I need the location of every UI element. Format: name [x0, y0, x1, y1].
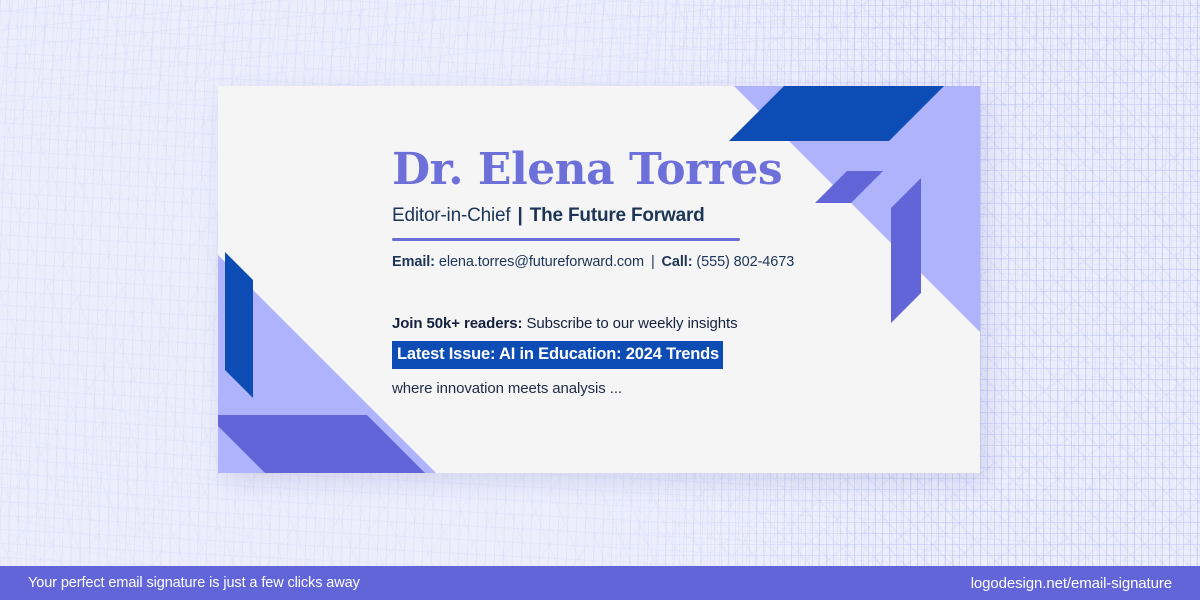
footer-tagline: Your perfect email signature is just a f…: [28, 575, 360, 591]
phone-number[interactable]: (555) 802-4673: [696, 254, 794, 270]
signature-content: Dr. Elena Torres Editor-in-Chief | The F…: [392, 146, 952, 397]
contact-separator: |: [648, 254, 658, 270]
email-signature-card: Dr. Elena Torres Editor-in-Chief | The F…: [218, 86, 980, 473]
subscribe-cta-text: Subscribe to our weekly insights: [526, 315, 737, 332]
role-separator: |: [516, 205, 525, 226]
promo-block: Join 50k+ readers: Subscribe to our week…: [392, 315, 952, 397]
person-name: Dr. Elena Torres: [392, 146, 952, 194]
contact-line: Email: elena.torres@futureforward.com | …: [392, 254, 952, 270]
email-address[interactable]: elena.torres@futureforward.com: [439, 254, 644, 270]
tagline: where innovation meets analysis ...: [392, 380, 952, 397]
footer-url[interactable]: logodesign.net/email-signature: [971, 575, 1172, 592]
latest-issue-highlight[interactable]: Latest Issue: AI in Education: 2024 Tren…: [392, 341, 723, 369]
role-title: Editor-in-Chief: [392, 205, 510, 226]
footer-bar: Your perfect email signature is just a f…: [0, 566, 1200, 600]
divider-line: [392, 238, 740, 241]
role-line: Editor-in-Chief | The Future Forward: [392, 205, 952, 227]
email-label: Email:: [392, 254, 435, 270]
subscribe-cta-label: Join 50k+ readers:: [392, 315, 522, 332]
publication-name: The Future Forward: [530, 205, 705, 226]
phone-label: Call:: [662, 254, 693, 270]
subscribe-line: Join 50k+ readers: Subscribe to our week…: [392, 315, 952, 332]
